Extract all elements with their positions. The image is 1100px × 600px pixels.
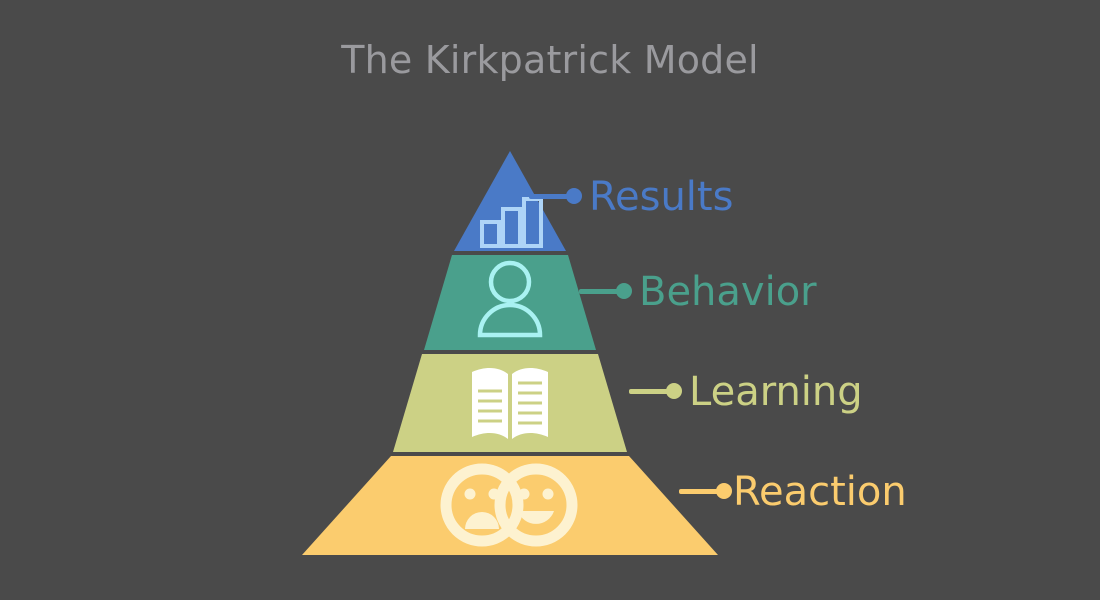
connector-results — [529, 188, 582, 204]
page-title: The Kirkpatrick Model — [0, 38, 1100, 82]
connector-line-reaction — [679, 489, 721, 494]
pyramid-tier-learning[interactable] — [393, 354, 627, 452]
connector-dot-learning — [666, 383, 682, 399]
tier-label-learning[interactable]: Learning — [689, 372, 863, 412]
connector-line-results — [529, 194, 571, 199]
tier-label-reaction[interactable]: Reaction — [733, 472, 907, 512]
tier-label-results[interactable]: Results — [589, 177, 733, 217]
pyramid-tier-behavior[interactable] — [424, 255, 596, 350]
kirkpatrick-model-diagram: The Kirkpatrick Model — [0, 0, 1100, 600]
connector-line-behavior — [579, 289, 621, 294]
connector-dot-reaction — [716, 483, 732, 499]
connector-dot-behavior — [616, 283, 632, 299]
connector-line-learning — [629, 389, 671, 394]
connector-learning — [629, 383, 682, 399]
connector-behavior — [579, 283, 632, 299]
pyramid-tier-reaction[interactable] — [302, 456, 718, 555]
connector-dot-results — [566, 188, 582, 204]
tier-label-behavior[interactable]: Behavior — [639, 272, 817, 312]
connector-reaction — [679, 483, 732, 499]
